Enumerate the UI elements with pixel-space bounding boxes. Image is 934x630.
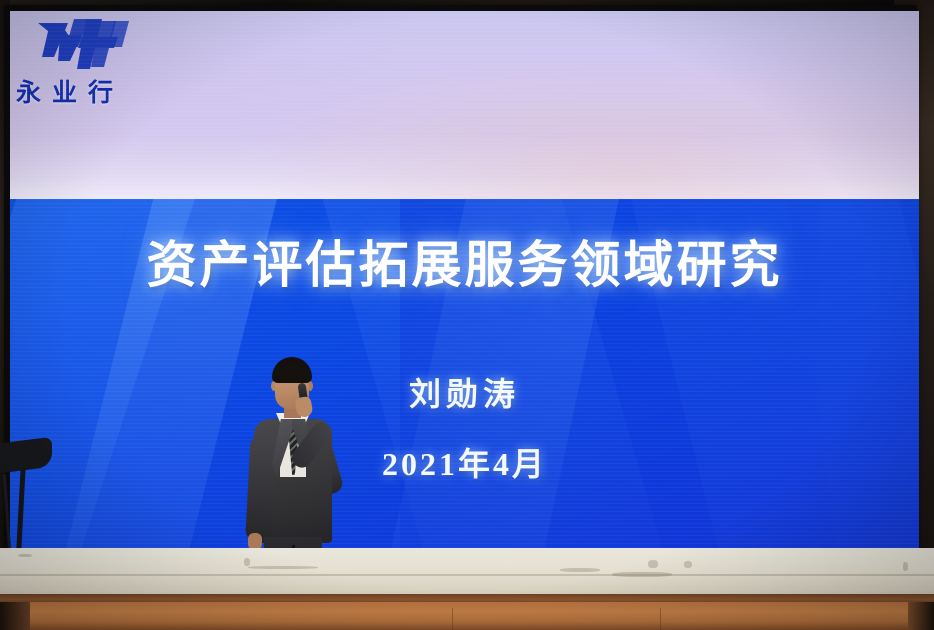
slide-date: 2021年4月: [10, 439, 919, 485]
stage-front-wall: [0, 548, 934, 600]
wall-scuff: [903, 562, 908, 571]
screenshot-root: 永业行 资产评估拓展服务领域研究 刘勋涛 2021年4月: [0, 0, 934, 630]
slide-title: 资产评估拓展服务领域研究: [10, 225, 919, 297]
wall-scuff: [684, 561, 692, 568]
wall-scuff: [248, 566, 318, 569]
wall-scuff: [560, 568, 600, 572]
floor-seam: [660, 608, 661, 630]
yh-monogram-icon: [30, 17, 135, 75]
wall-scuff: [612, 572, 672, 577]
stand-head: [0, 437, 52, 473]
wall-scuff: [648, 560, 658, 568]
company-name: 永业行: [16, 73, 124, 109]
led-screen-bezel: 永业行 资产评估拓展服务领域研究 刘勋涛 2021年4月: [4, 5, 917, 563]
presenter-hair-fringe: [273, 364, 311, 378]
wooden-stage-floor: [0, 602, 934, 630]
wall-scuff: [244, 558, 250, 566]
brand-logo: 永业行: [16, 17, 186, 109]
floor-seam: [452, 608, 453, 630]
slide-author: 刘勋涛: [10, 369, 919, 415]
floor-shadow-left: [0, 602, 30, 630]
wall-scuff: [18, 554, 32, 557]
led-screen: 永业行 资产评估拓展服务领域研究 刘勋涛 2021年4月: [10, 11, 919, 559]
floor-shadow-right: [908, 602, 934, 630]
